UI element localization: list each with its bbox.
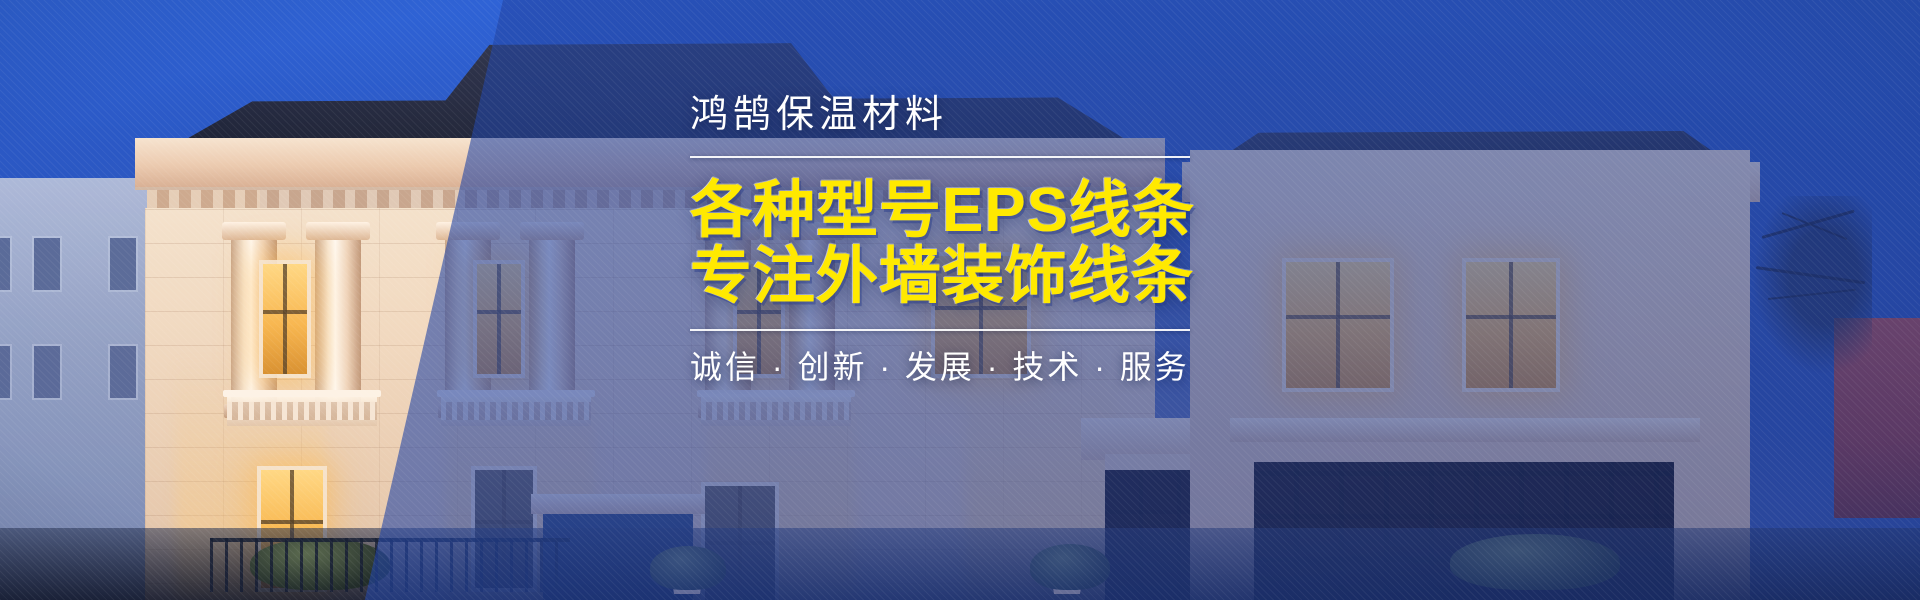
divider-bottom xyxy=(690,329,1190,331)
window xyxy=(0,238,10,290)
window xyxy=(34,346,60,398)
headline: 各种型号EPS线条 专注外墙装饰线条 xyxy=(690,178,1690,309)
window xyxy=(0,346,10,398)
brand-name: 鸿鹄保温材料 xyxy=(690,96,1690,134)
divider-top xyxy=(690,156,1190,158)
headline-line-1: 各种型号EPS线条 xyxy=(690,176,1195,245)
headline-line-2: 专注外墙装饰线条 xyxy=(690,244,1690,310)
window-lit xyxy=(263,264,307,374)
hero-banner: 鸿鹄保温材料 各种型号EPS线条 专注外墙装饰线条 诚信 · 创新 · 发展 ·… xyxy=(0,0,1920,600)
column xyxy=(315,238,361,406)
tagline: 诚信 · 创新 · 发展 · 技术 · 服务 xyxy=(690,351,1690,383)
window xyxy=(34,238,60,290)
banner-copy: 鸿鹄保温材料 各种型号EPS线条 专注外墙装饰线条 诚信 · 创新 · 发展 ·… xyxy=(690,96,1690,383)
balustrade xyxy=(227,396,377,426)
